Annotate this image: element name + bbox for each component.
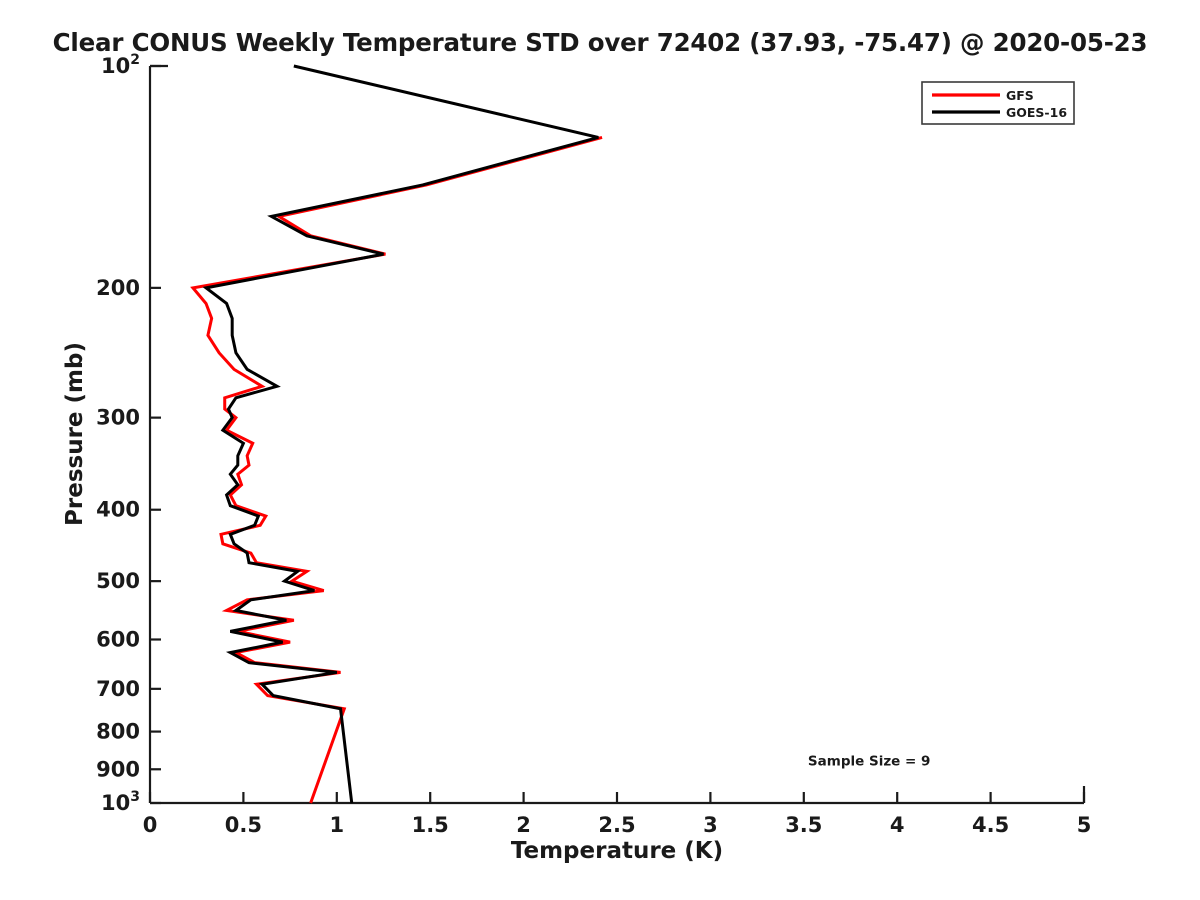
y-tick-label: 103 (101, 789, 140, 815)
x-tick-label: 2 (516, 813, 531, 837)
x-tick-label: 4.5 (972, 813, 1009, 837)
y-tick-label: 300 (96, 406, 140, 430)
x-tick-label: 1 (329, 813, 344, 837)
x-tick-label: 4 (890, 813, 905, 837)
x-tick-label: 0 (143, 813, 158, 837)
y-tick-label: 102 (101, 52, 140, 78)
x-tick-label: 1.5 (412, 813, 449, 837)
axes-group: 00.511.522.533.544.55 102200300400500600… (96, 52, 1091, 837)
x-tick-label: 5 (1077, 813, 1092, 837)
chart-legend[interactable]: GFSGOES-16 (922, 82, 1074, 124)
x-tick-label: 0.5 (225, 813, 262, 837)
x-tick-label: 3.5 (785, 813, 822, 837)
figure-canvas: Clear CONUS Weekly Temperature STD over … (0, 0, 1200, 900)
x-tick-label: 2.5 (598, 813, 635, 837)
x-tick-label: 3 (703, 813, 718, 837)
y-tick-label: 600 (96, 627, 140, 651)
legend-label-gfs: GFS (1006, 88, 1034, 103)
legend-label-goes-16: GOES-16 (1006, 105, 1067, 120)
y-axis-label: Pressure (mb) (62, 342, 88, 526)
x-axis-label: Temperature (K) (511, 838, 723, 864)
plot-background (150, 66, 1084, 803)
annotations-group: Sample Size = 9 (808, 754, 931, 770)
sample-size-annotation: Sample Size = 9 (808, 754, 931, 770)
y-tick-label: 200 (96, 276, 140, 300)
y-tick-label: 400 (96, 498, 140, 522)
y-tick-label: 800 (96, 720, 140, 744)
plot-area: 00.511.522.533.544.55 102200300400500600… (0, 0, 1200, 900)
y-tick-label: 700 (96, 677, 140, 701)
y-tick-label: 500 (96, 569, 140, 593)
y-tick-label: 900 (96, 757, 140, 781)
